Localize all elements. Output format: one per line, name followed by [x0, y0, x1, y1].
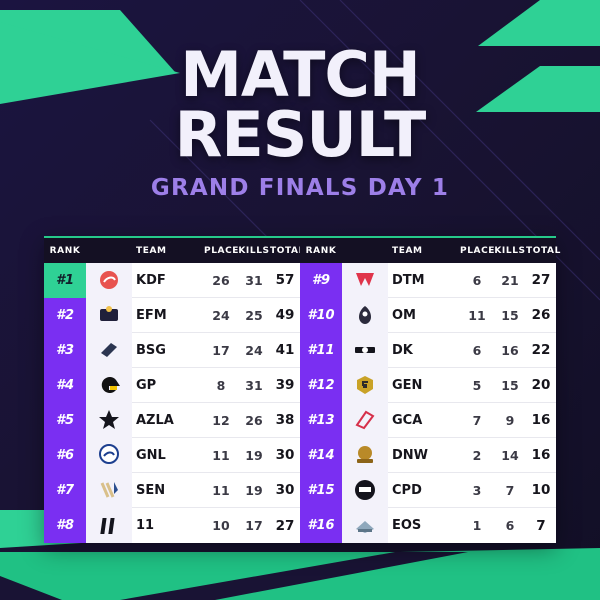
place-value: 12: [204, 413, 238, 428]
rank-cell: #5: [44, 403, 86, 438]
total-value: 16: [526, 447, 556, 463]
kills-value: 17: [238, 518, 270, 533]
rank-cell: #6: [44, 438, 86, 473]
kdf-logo: [86, 263, 132, 298]
rank-cell: #3: [44, 333, 86, 368]
total-value: 26: [526, 307, 556, 323]
team-name: GNL: [132, 448, 204, 463]
total-value: 30: [270, 447, 300, 463]
table-row: #3BSG172441: [44, 333, 300, 368]
kills-value: 6: [494, 518, 526, 533]
table-row: #16EOS167: [300, 508, 556, 543]
total-value: 57: [270, 272, 300, 288]
table-row: #9DTM62127: [300, 263, 556, 298]
kills-value: 25: [238, 308, 270, 323]
gnl-logo: [86, 438, 132, 473]
rank-cell: #13: [300, 403, 342, 438]
rank-cell: #10: [300, 298, 342, 333]
place-value: 11: [204, 448, 238, 463]
team-name: DTM: [388, 273, 460, 288]
total-value: 38: [270, 412, 300, 428]
dk-logo: [342, 333, 388, 368]
team-name: SEN: [132, 483, 204, 498]
place-value: 17: [204, 343, 238, 358]
place-value: 6: [460, 343, 494, 358]
column-header-total: TOTAL: [270, 246, 300, 256]
total-value: 7: [526, 518, 556, 534]
table-row: #14DNW21416: [300, 438, 556, 473]
rank-cell: #7: [44, 473, 86, 508]
place-value: 11: [460, 308, 494, 323]
team-name: DK: [388, 343, 460, 358]
kills-value: 31: [238, 378, 270, 393]
azla-logo: [86, 403, 132, 438]
kills-value: 9: [494, 413, 526, 428]
rank-cell: #9: [300, 263, 342, 298]
team-name: GEN: [388, 378, 460, 393]
table-body-right: #9DTM62127#10OM111526#11DK61622#12GEN515…: [300, 263, 556, 543]
eleven-logo: [86, 508, 132, 543]
rank-cell: #2: [44, 298, 86, 333]
table-row: #12GEN51520: [300, 368, 556, 403]
place-value: 2: [460, 448, 494, 463]
column-header-rank: RANK: [300, 246, 342, 256]
place-value: 1: [460, 518, 494, 533]
gp-logo: [86, 368, 132, 403]
table-header-right: RANK TEAM PLACE KILLS TOTAL: [300, 236, 556, 263]
team-name: AZLA: [132, 413, 204, 428]
table-row: #1KDF263157: [44, 263, 300, 298]
kills-value: 26: [238, 413, 270, 428]
sen-logo: [86, 473, 132, 508]
team-name: DNW: [388, 448, 460, 463]
place-value: 3: [460, 483, 494, 498]
column-header-team: TEAM: [388, 246, 460, 256]
table-row: #10OM111526: [300, 298, 556, 333]
kills-value: 7: [494, 483, 526, 498]
rank-cell: #1: [44, 263, 86, 298]
column-header-kills: KILLS: [238, 246, 270, 256]
kills-value: 14: [494, 448, 526, 463]
bsg-logo: [86, 333, 132, 368]
place-value: 26: [204, 273, 238, 288]
dnw-logo: [342, 438, 388, 473]
kills-value: 19: [238, 448, 270, 463]
total-value: 20: [526, 377, 556, 393]
place-value: 10: [204, 518, 238, 533]
page-title-line2: RESULT: [0, 106, 600, 163]
total-value: 16: [526, 412, 556, 428]
title-block: MATCH RESULT GRAND FINALS DAY 1: [0, 46, 600, 201]
kills-value: 15: [494, 378, 526, 393]
team-name: OM: [388, 308, 460, 323]
table-row: #811101727: [44, 508, 300, 543]
kills-value: 31: [238, 273, 270, 288]
total-value: 49: [270, 307, 300, 323]
eos-logo: [342, 508, 388, 543]
place-value: 5: [460, 378, 494, 393]
team-name: EFM: [132, 308, 204, 323]
page-subtitle: GRAND FINALS DAY 1: [0, 175, 600, 201]
table-body-left: #1KDF263157#2EFM242549#3BSG172441#4GP831…: [44, 263, 300, 543]
om-logo: [342, 298, 388, 333]
table-row: #5AZLA122638: [44, 403, 300, 438]
table-row: #15CPD3710: [300, 473, 556, 508]
efm-logo: [86, 298, 132, 333]
kills-value: 19: [238, 483, 270, 498]
gen-logo: [342, 368, 388, 403]
place-value: 8: [204, 378, 238, 393]
rank-cell: #8: [44, 508, 86, 543]
team-name: KDF: [132, 273, 204, 288]
results-tables: RANK TEAM PLACE KILLS TOTAL #1KDF263157#…: [44, 236, 556, 543]
table-row: #6GNL111930: [44, 438, 300, 473]
kills-value: 15: [494, 308, 526, 323]
rank-cell: #12: [300, 368, 342, 403]
kills-value: 24: [238, 343, 270, 358]
leaderboard-right: RANK TEAM PLACE KILLS TOTAL #9DTM62127#1…: [300, 236, 556, 543]
place-value: 24: [204, 308, 238, 323]
column-header-rank: RANK: [44, 246, 86, 256]
team-name: BSG: [132, 343, 204, 358]
team-name: 11: [132, 518, 204, 533]
total-value: 39: [270, 377, 300, 393]
table-row: #4GP83139: [44, 368, 300, 403]
leaderboard-left: RANK TEAM PLACE KILLS TOTAL #1KDF263157#…: [44, 236, 300, 543]
team-name: GCA: [388, 413, 460, 428]
team-name: EOS: [388, 518, 460, 533]
total-value: 10: [526, 482, 556, 498]
cpd-logo: [342, 473, 388, 508]
place-value: 11: [204, 483, 238, 498]
table-row: #13GCA7916: [300, 403, 556, 438]
column-header-place: PLACE: [204, 246, 238, 256]
rank-cell: #4: [44, 368, 86, 403]
place-value: 7: [460, 413, 494, 428]
dtm-logo: [342, 263, 388, 298]
rank-cell: #15: [300, 473, 342, 508]
rank-cell: #16: [300, 508, 342, 543]
column-header-place: PLACE: [460, 246, 494, 256]
total-value: 30: [270, 482, 300, 498]
gca-logo: [342, 403, 388, 438]
table-row: #11DK61622: [300, 333, 556, 368]
page-title-line1: MATCH: [0, 46, 600, 103]
column-header-kills: KILLS: [494, 246, 526, 256]
total-value: 41: [270, 342, 300, 358]
total-value: 27: [526, 272, 556, 288]
rank-cell: #11: [300, 333, 342, 368]
team-name: GP: [132, 378, 204, 393]
total-value: 22: [526, 342, 556, 358]
table-row: #7SEN111930: [44, 473, 300, 508]
column-header-team: TEAM: [132, 246, 204, 256]
table-header-left: RANK TEAM PLACE KILLS TOTAL: [44, 236, 300, 263]
column-header-total: TOTAL: [526, 246, 556, 256]
kills-value: 21: [494, 273, 526, 288]
kills-value: 16: [494, 343, 526, 358]
team-name: CPD: [388, 483, 460, 498]
table-row: #2EFM242549: [44, 298, 300, 333]
rank-cell: #14: [300, 438, 342, 473]
place-value: 6: [460, 273, 494, 288]
total-value: 27: [270, 518, 300, 534]
